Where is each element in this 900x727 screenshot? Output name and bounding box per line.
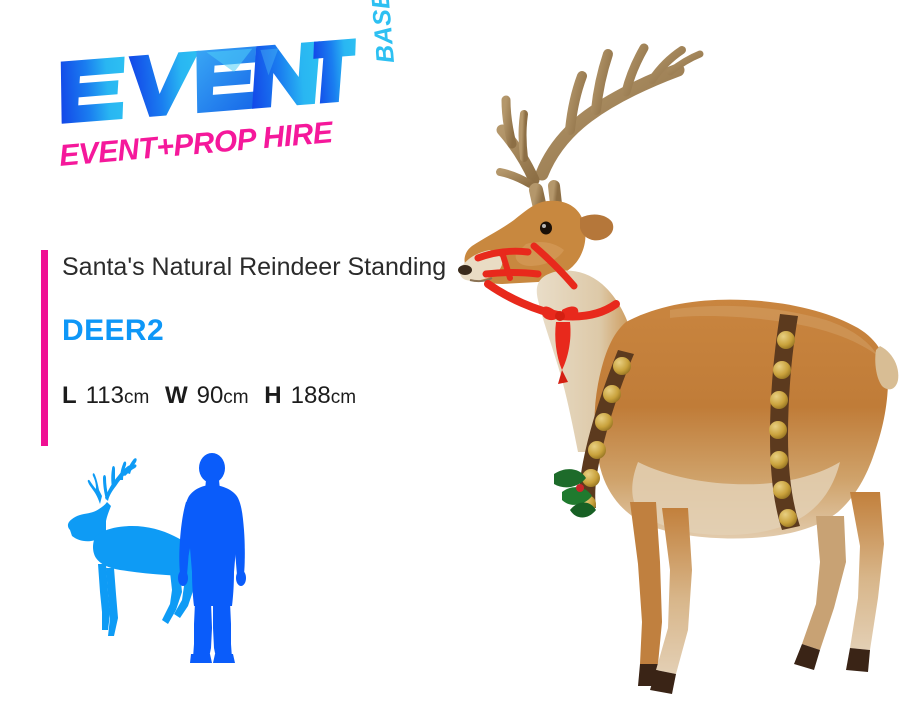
height-key: H [264,382,281,409]
height-unit: cm [331,387,356,408]
scale-silhouettes-svg [62,452,282,667]
accent-bar [41,250,48,446]
brand-logo: BASE EVENT+PROP HIRE [56,52,376,182]
antlers [500,48,700,208]
length-unit: cm [124,387,149,408]
scale-comparison [62,452,282,667]
height-value: 188 [291,382,331,409]
product-card: BASE EVENT+PROP HIRE Santa's Natural Rei… [0,0,900,727]
width-key: W [165,382,188,409]
product-dimensions: L113cm W90cm H188cm [62,384,482,408]
person-scale-silhouette [178,453,246,663]
product-code: DEER2 [62,316,482,346]
length-value: 113 [86,382,124,409]
length-key: L [62,382,77,409]
reindeer-illustration [430,22,900,712]
width-unit: cm [223,387,248,408]
product-title: Santa's Natural Reindeer Standing [62,252,482,282]
event-wordmark [56,28,361,129]
width-value: 90 [197,382,224,409]
reindeer-product-photo [430,22,900,712]
base-wordmark: BASE [368,0,399,64]
product-info: Santa's Natural Reindeer Standing DEER2 … [62,252,482,408]
